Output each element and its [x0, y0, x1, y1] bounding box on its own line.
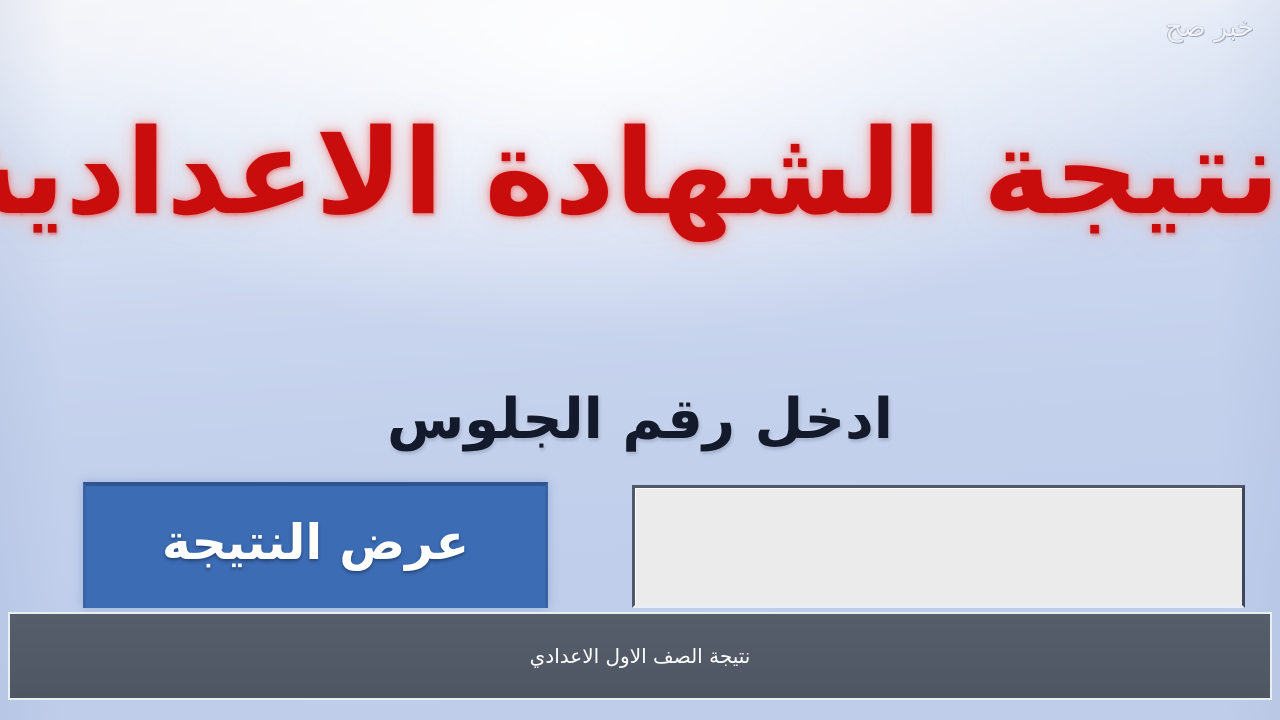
- caption-bar: نتيجة الصف الاول الاعدادي: [8, 612, 1272, 700]
- seat-number-prompt-label: ادخل رقم الجلوس: [0, 382, 1280, 458]
- page-root: خبر صح نتيجة الشهادة الاعدادية ادخل رقم …: [0, 0, 1280, 720]
- caption-text: نتيجة الصف الاول الاعدادي: [530, 643, 751, 669]
- show-result-button[interactable]: عرض النتيجة: [83, 482, 548, 608]
- page-title: نتيجة الشهادة الاعدادية: [0, 101, 1280, 245]
- seat-number-input[interactable]: [632, 485, 1245, 608]
- site-watermark: خبر صح: [1165, 14, 1254, 41]
